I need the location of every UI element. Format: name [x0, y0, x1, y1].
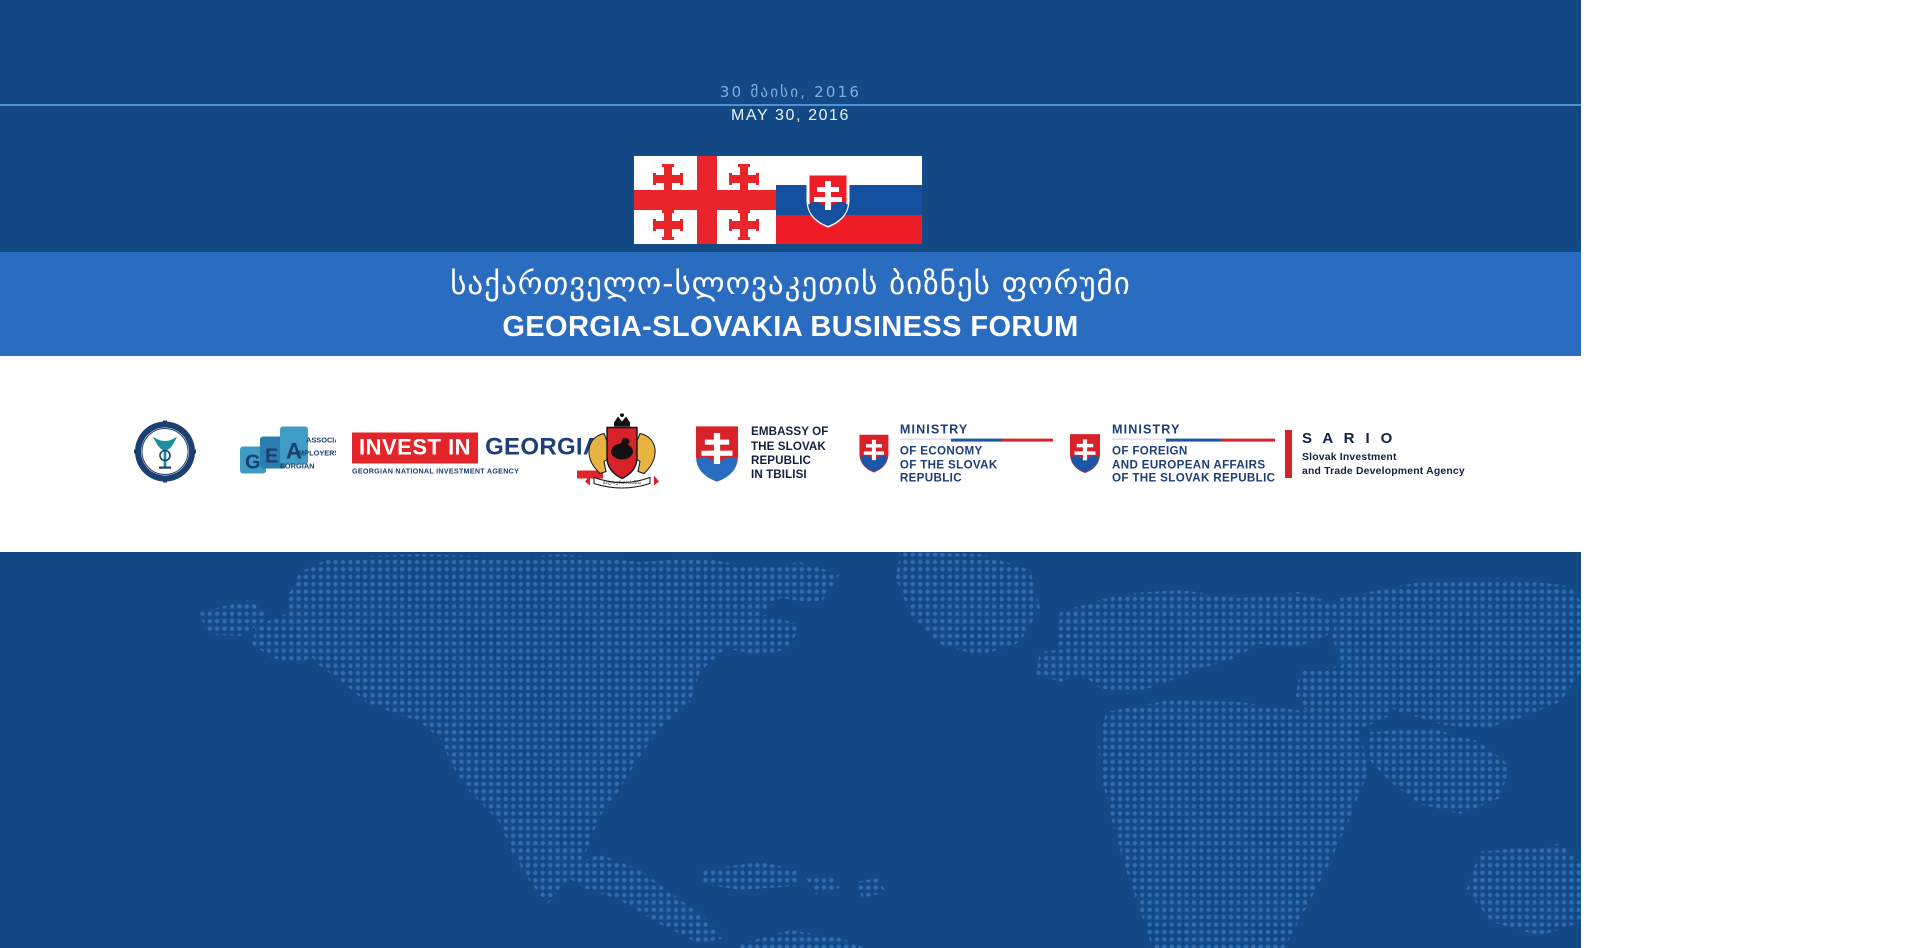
invest-subtitle: GEORGIAN NATIONAL INVESTMENT AGENCY: [352, 467, 601, 476]
gea-line-employers: MPLOYERS: [298, 449, 336, 458]
logo-ministry-of-foreign-affairs[interactable]: MINISTRY OF FOREIGN AND EUROPEAN AFFAIRS…: [1068, 356, 1283, 552]
slovakia-flag: [776, 156, 922, 244]
poster-canvas: 30 მაისი, 2016 MAY 30, 2016: [0, 0, 1581, 948]
gea-line-association: ASSOCIATION: [306, 436, 336, 445]
svg-text:G: G: [245, 452, 261, 474]
flags-row: [0, 156, 1581, 246]
dotted-world-map: [0, 552, 1581, 948]
logo-georgia-coat-of-arms[interactable]: ძალა ერთობაშია: [580, 356, 666, 552]
bolnisi-cross-icon: [731, 212, 757, 238]
logo-embassy-slovak-republic[interactable]: EMBASSY OF THE SLOVAK REPUBLIC IN TBILIS…: [692, 356, 832, 552]
svg-text:E: E: [265, 446, 278, 468]
title-band: საქართველო-სლოვაკეთის ბიზნეს ფორუმი GEOR…: [0, 252, 1581, 356]
slovak-shield-icon: [1068, 433, 1102, 475]
sponsor-logo-bar: G E A ASSOCIATION MPLOYERS EORGIAN INVES…: [0, 356, 1581, 552]
ministry-foreign-text-block: MINISTRY OF FOREIGN AND EUROPEAN AFFAIRS…: [1112, 423, 1275, 486]
ministry-foreign-line-3: OF THE SLOVAK REPUBLIC: [1112, 472, 1275, 486]
ministry-tricolor-rule: [1112, 439, 1275, 442]
embassy-line-3: REPUBLIC: [751, 454, 828, 468]
gea-line-georgian: EORGIAN: [280, 462, 315, 471]
ministry-foreign-head: MINISTRY: [1112, 423, 1275, 437]
sario-red-bar: [1285, 430, 1292, 478]
embassy-line-4: IN TBILISI: [751, 468, 828, 482]
date-english: MAY 30, 2016: [0, 107, 1581, 125]
slovak-shield-icon: [858, 433, 890, 475]
title-georgian: საქართველო-სლოვაკეთის ბიზნეს ფორუმი: [0, 266, 1581, 302]
ministry-economy-line-1: OF ECONOMY: [900, 445, 1053, 459]
ministry-economy-text-block: MINISTRY OF ECONOMY OF THE SLOVAK REPUBL…: [900, 423, 1053, 486]
sario-line-2: and Trade Development Agency: [1302, 465, 1465, 479]
logo-gcci[interactable]: [134, 356, 200, 552]
invest-badge: INVEST IN: [352, 433, 478, 464]
embassy-text-block: EMBASSY OF THE SLOVAK REPUBLIC IN TBILIS…: [751, 425, 828, 483]
date-georgian: 30 მაისი, 2016: [0, 83, 1581, 101]
embassy-line-1: EMBASSY OF: [751, 425, 828, 439]
ministry-tricolor-rule: [900, 439, 1053, 442]
slovakia-coat-of-arms-icon: [806, 172, 850, 228]
georgia-flag: [634, 156, 780, 244]
ministry-economy-line-2: OF THE SLOVAK REPUBLIC: [900, 458, 1053, 485]
bolnisi-cross-icon: [655, 212, 681, 238]
gea-blocks-icon: G E A ASSOCIATION MPLOYERS EORGIAN: [240, 427, 336, 477]
slovak-shield-icon: [692, 423, 742, 485]
sario-name: S A R I O: [1302, 430, 1465, 447]
sario-text-block: S A R I O Slovak Investment and Trade De…: [1302, 430, 1465, 478]
title-english: GEORGIA-SLOVAKIA BUSINESS FORUM: [0, 311, 1581, 344]
bolnisi-cross-icon: [731, 166, 757, 192]
logo-gea[interactable]: G E A ASSOCIATION MPLOYERS EORGIAN: [240, 356, 340, 552]
ministry-foreign-line-2: AND EUROPEAN AFFAIRS: [1112, 458, 1275, 472]
logo-sario[interactable]: S A R I O Slovak Investment and Trade De…: [1285, 356, 1475, 552]
sario-line-1: Slovak Investment: [1302, 451, 1465, 465]
georgia-coat-of-arms-icon: ძალა ერთობაშია: [580, 414, 664, 490]
world-map-dots: [0, 552, 1581, 948]
gear-emblem-icon: [134, 421, 196, 483]
logo-ministry-of-economy[interactable]: MINISTRY OF ECONOMY OF THE SLOVAK REPUBL…: [858, 356, 1053, 552]
embassy-line-2: THE SLOVAK: [751, 440, 828, 454]
georgia-flag-horizontal-bar: [634, 190, 780, 210]
ministry-economy-head: MINISTRY: [900, 423, 1053, 437]
svg-text:ძალა ერთობაშია: ძალა ერთობაშია: [603, 479, 642, 486]
logo-invest-in-georgia[interactable]: INVEST INGEORGIA GEORGIAN NATIONAL INVES…: [352, 356, 562, 552]
ministry-foreign-line-1: OF FOREIGN: [1112, 445, 1275, 459]
bolnisi-cross-icon: [655, 166, 681, 192]
date-separator-rule: [0, 104, 1581, 106]
